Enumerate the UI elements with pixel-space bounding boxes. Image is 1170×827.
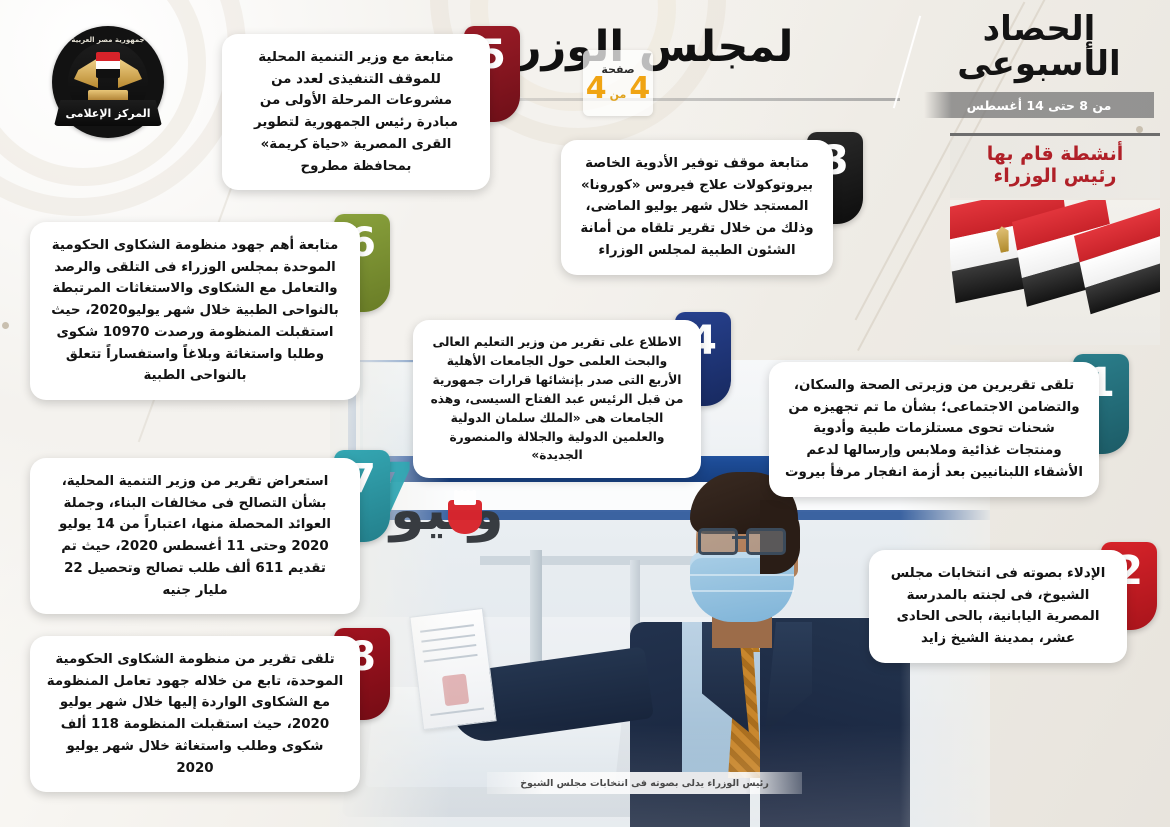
page-badge-total: 4 bbox=[586, 74, 607, 104]
logo-ribbon-label: المركز الإعلامى bbox=[66, 107, 151, 120]
page-number-badge: صفحة 4 من 4 bbox=[583, 50, 653, 116]
page-title: لمجلس الوزراء bbox=[480, 22, 900, 72]
eagle-wing-right bbox=[118, 58, 142, 88]
title-line-2: الأسبوعى bbox=[924, 47, 1154, 82]
activity-card-2: 2 الإدلاء بصوته فى انتخابات مجلس الشيوخ،… bbox=[869, 550, 1127, 663]
activity-card-1: 1 تلقى تقريرين من وزيرتى الصحة والسكان، … bbox=[769, 362, 1099, 497]
egypt-flags-icon bbox=[950, 200, 1160, 345]
activity-card-7: 7 استعراض تقرير من وزير التنمية المحلية،… bbox=[30, 458, 360, 614]
activity-card-4-text: الاطلاع على تقرير من وزير التعليم العالى… bbox=[413, 320, 701, 478]
activities-panel: أنشطة قام بها رئيس الوزراء bbox=[950, 133, 1160, 345]
activities-panel-title: أنشطة قام بها رئيس الوزراء bbox=[950, 133, 1160, 198]
infographic-page: رئيس الوزراء يدلى بصوته فى انتخابات مجلس… bbox=[0, 0, 1170, 827]
egypt-flag-shield-icon bbox=[96, 52, 120, 78]
activity-card-3-text: متابعة موقف توفير الأدوية الخاصة بيروتوك… bbox=[561, 140, 833, 275]
page-badge-of-label: من bbox=[610, 88, 627, 104]
activity-card-8-text: تلقى تقرير من منظومة الشكاوى الحكومية ال… bbox=[30, 636, 360, 792]
activity-card-2-text: الإدلاء بصوته فى انتخابات مجلس الشيوخ، ف… bbox=[869, 550, 1127, 663]
activity-card-5: 5 متابعة مع وزير التنمية المحلية للموقف … bbox=[222, 34, 490, 190]
activity-card-7-text: استعراض تقرير من وزير التنمية المحلية، ب… bbox=[30, 458, 360, 614]
title-line-1: الحصاد bbox=[924, 12, 1154, 47]
date-range-bar: من 8 حتى 14 أغسطس bbox=[924, 92, 1154, 118]
activity-card-8: 8 تلقى تقرير من منظومة الشكاوى الحكومية … bbox=[30, 636, 360, 792]
page-badge-current: 4 bbox=[629, 74, 650, 104]
decorative-dot bbox=[1136, 126, 1143, 133]
activity-card-6: 6 متابعة أهم جهود منظومة الشكاوى الحكومي… bbox=[30, 222, 360, 400]
decorative-dot bbox=[2, 322, 9, 329]
activity-card-1-text: تلقى تقريرين من وزيرتى الصحة والسكان، وا… bbox=[769, 362, 1099, 497]
activities-title-line-2: رئيس الوزراء bbox=[956, 166, 1154, 188]
cabinet-media-center-logo: جمهورية مصر العربية رئاسة مجلس الوزراء ا… bbox=[52, 26, 164, 138]
activity-card-3: 3 متابعة موقف توفير الأدوية الخاصة بيروت… bbox=[561, 140, 833, 275]
activity-card-5-text: متابعة مع وزير التنمية المحلية للموقف ال… bbox=[222, 34, 490, 190]
page-badge-numbers: 4 من 4 bbox=[586, 74, 650, 104]
red-hand-logo-icon bbox=[448, 500, 482, 534]
activity-card-4: 4 الاطلاع على تقرير من وزير التعليم العا… bbox=[413, 320, 701, 478]
photo-caption: رئيس الوزراء يدلى بصوته فى انتخابات مجلس… bbox=[487, 772, 802, 794]
logo-ribbon: المركز الإعلامى bbox=[54, 100, 162, 126]
activity-card-6-text: متابعة أهم جهود منظومة الشكاوى الحكومية … bbox=[30, 222, 360, 400]
activities-title-line-1: أنشطة قام بها bbox=[956, 144, 1154, 166]
logo-top-arc-label: جمهورية مصر العربية bbox=[56, 36, 160, 44]
watermark-text: ونيو bbox=[390, 478, 504, 543]
eagle-wing-left bbox=[74, 58, 98, 88]
weekly-harvest-title: الحصاد الأسبوعى bbox=[924, 12, 1154, 81]
